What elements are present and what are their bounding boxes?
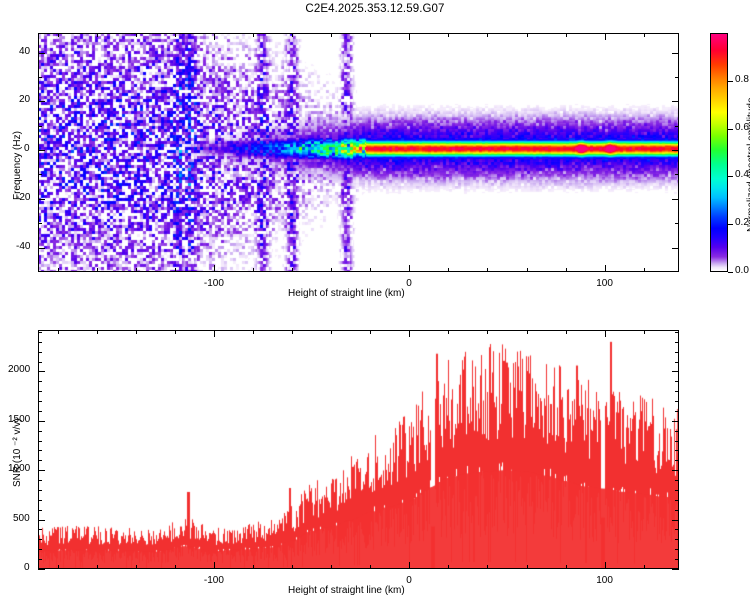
page-title: C2E4.2025.353.12.59.G07 — [0, 3, 750, 15]
axis-tick — [644, 330, 645, 334]
axis-tick — [38, 223, 42, 224]
axis-tick — [672, 150, 679, 151]
axis-tick — [253, 268, 254, 272]
axis-tick — [253, 33, 254, 37]
axis-tick — [97, 33, 98, 37]
axis-tick — [292, 565, 293, 569]
snr-panel — [38, 330, 679, 569]
axis-tick-label: 2000 — [8, 364, 30, 375]
axis-tick — [58, 268, 59, 272]
axis-tick — [38, 421, 45, 422]
axis-tick — [370, 33, 371, 37]
axis-tick — [487, 33, 488, 37]
axis-tick — [566, 268, 567, 272]
axis-tick — [672, 101, 679, 102]
axis-tick — [675, 391, 679, 392]
axis-tick — [728, 81, 733, 82]
axis-tick — [38, 441, 42, 442]
axis-tick-label: 100 — [596, 575, 613, 586]
axis-tick — [175, 268, 176, 272]
figure-root: C2E4.2025.353.12.59.G07 -100010040200-20… — [0, 0, 750, 600]
axis-tick — [675, 223, 679, 224]
axis-tick — [728, 272, 733, 273]
axis-tick — [409, 265, 410, 272]
axis-tick — [136, 268, 137, 272]
axis-tick — [675, 174, 679, 175]
axis-tick — [409, 33, 410, 40]
axis-tick — [675, 529, 679, 530]
axis-tick-label: 0 — [24, 562, 30, 573]
axis-tick — [214, 265, 215, 272]
axis-tick — [644, 33, 645, 37]
axis-tick — [675, 126, 679, 127]
axis-tick — [644, 268, 645, 272]
axis-tick — [58, 565, 59, 569]
axis-tick — [675, 500, 679, 501]
axis-tick — [672, 53, 679, 54]
axis-tick — [527, 330, 528, 334]
axis-tick — [672, 421, 679, 422]
axis-tick — [370, 268, 371, 272]
axis-tick — [728, 224, 733, 225]
axis-tick — [675, 460, 679, 461]
axis-tick — [38, 362, 42, 363]
axis-tick — [38, 126, 42, 127]
axis-tick — [370, 565, 371, 569]
axis-tick — [38, 401, 42, 402]
axis-tick — [675, 490, 679, 491]
axis-tick — [448, 565, 449, 569]
axis-tick-label: 500 — [13, 513, 30, 524]
axis-tick — [38, 520, 45, 521]
axis-tick — [292, 268, 293, 272]
axis-tick — [675, 401, 679, 402]
axis-tick — [448, 330, 449, 334]
axis-tick — [409, 562, 410, 569]
axis-tick — [728, 129, 733, 130]
axis-tick — [58, 33, 59, 37]
axis-tick — [292, 330, 293, 334]
axis-tick — [675, 559, 679, 560]
axis-tick — [253, 330, 254, 334]
axis-tick — [38, 352, 42, 353]
axis-tick — [672, 248, 679, 249]
axis-tick — [253, 565, 254, 569]
axis-tick — [672, 520, 679, 521]
axis-tick — [38, 77, 42, 78]
axis-tick-label: 20 — [19, 94, 30, 105]
axis-tick-label: 0.8 — [735, 74, 749, 85]
axis-tick — [331, 268, 332, 272]
axis-tick — [487, 565, 488, 569]
axis-tick — [38, 490, 42, 491]
axis-tick-label: -100 — [204, 575, 224, 586]
axis-tick — [728, 176, 733, 177]
axis-tick — [38, 101, 45, 102]
snr-y-axis-label: SNR (10 ⁻² v/v) — [12, 418, 23, 487]
axis-tick — [38, 174, 42, 175]
axis-tick — [675, 480, 679, 481]
axis-tick — [38, 248, 45, 249]
axis-tick — [487, 268, 488, 272]
axis-tick — [38, 199, 45, 200]
axis-tick-label: 0.0 — [735, 265, 749, 276]
axis-tick — [292, 33, 293, 37]
axis-tick-label: 40 — [19, 46, 30, 57]
axis-tick — [38, 431, 42, 432]
axis-tick — [675, 342, 679, 343]
axis-tick — [38, 539, 42, 540]
axis-tick — [675, 539, 679, 540]
axis-tick — [97, 565, 98, 569]
axis-tick — [38, 381, 42, 382]
axis-tick-label: 100 — [596, 278, 613, 289]
axis-tick — [675, 77, 679, 78]
axis-tick — [675, 381, 679, 382]
axis-tick — [527, 33, 528, 37]
snr-x-axis-label: Height of straight line (km) — [288, 585, 405, 596]
axis-tick — [675, 431, 679, 432]
axis-tick — [38, 332, 42, 333]
axis-tick — [38, 549, 42, 550]
axis-tick — [527, 565, 528, 569]
axis-tick — [331, 565, 332, 569]
axis-tick — [38, 371, 45, 372]
axis-tick — [672, 569, 679, 570]
axis-tick — [605, 330, 606, 337]
axis-tick — [214, 33, 215, 40]
colorbar-label: Normalized spectral amplitude — [746, 97, 750, 232]
axis-tick — [675, 352, 679, 353]
axis-tick — [675, 362, 679, 363]
axis-tick — [331, 33, 332, 37]
axis-tick — [566, 330, 567, 334]
axis-tick — [38, 529, 42, 530]
axis-tick-label: 0 — [24, 143, 30, 154]
axis-tick — [448, 268, 449, 272]
axis-tick — [370, 330, 371, 334]
axis-tick — [214, 562, 215, 569]
axis-tick — [97, 268, 98, 272]
spectrogram-x-axis-label: Height of straight line (km) — [288, 288, 405, 299]
axis-tick — [136, 33, 137, 37]
axis-tick — [409, 330, 410, 337]
axis-tick — [38, 391, 42, 392]
axis-tick-label: 0 — [406, 278, 412, 289]
axis-tick — [38, 150, 45, 151]
axis-tick — [38, 450, 42, 451]
axis-tick — [97, 330, 98, 334]
axis-tick — [38, 411, 42, 412]
axis-tick — [672, 371, 679, 372]
axis-tick — [675, 441, 679, 442]
axis-tick — [58, 330, 59, 334]
axis-tick — [527, 268, 528, 272]
axis-tick — [136, 330, 137, 334]
axis-tick — [214, 330, 215, 337]
axis-tick — [644, 565, 645, 569]
spectrogram-frame — [38, 33, 679, 272]
axis-tick — [38, 53, 45, 54]
axis-tick — [672, 470, 679, 471]
axis-tick — [605, 33, 606, 40]
axis-tick — [331, 330, 332, 334]
snr-frame — [38, 330, 679, 569]
axis-tick-label: 0 — [406, 575, 412, 586]
axis-tick — [38, 342, 42, 343]
axis-tick — [38, 559, 42, 560]
spectrogram-y-axis-label: Frequency (Hz) — [12, 131, 23, 200]
axis-tick — [175, 33, 176, 37]
axis-tick — [448, 33, 449, 37]
axis-tick — [38, 569, 45, 570]
axis-tick — [605, 562, 606, 569]
axis-tick — [675, 332, 679, 333]
axis-tick — [38, 470, 45, 471]
axis-tick — [675, 450, 679, 451]
colorbar — [710, 33, 728, 272]
axis-tick-label: -100 — [204, 278, 224, 289]
axis-tick — [675, 549, 679, 550]
axis-tick — [605, 265, 606, 272]
axis-tick — [672, 199, 679, 200]
axis-tick — [38, 480, 42, 481]
axis-tick — [38, 460, 42, 461]
axis-tick — [675, 510, 679, 511]
axis-tick — [487, 330, 488, 334]
spectrogram-panel — [38, 33, 679, 272]
axis-tick — [566, 565, 567, 569]
axis-tick — [675, 411, 679, 412]
axis-tick — [38, 510, 42, 511]
axis-tick-label: -40 — [16, 241, 30, 252]
axis-tick — [566, 33, 567, 37]
axis-tick — [136, 565, 137, 569]
axis-tick — [175, 330, 176, 334]
axis-tick — [175, 565, 176, 569]
axis-tick — [38, 500, 42, 501]
